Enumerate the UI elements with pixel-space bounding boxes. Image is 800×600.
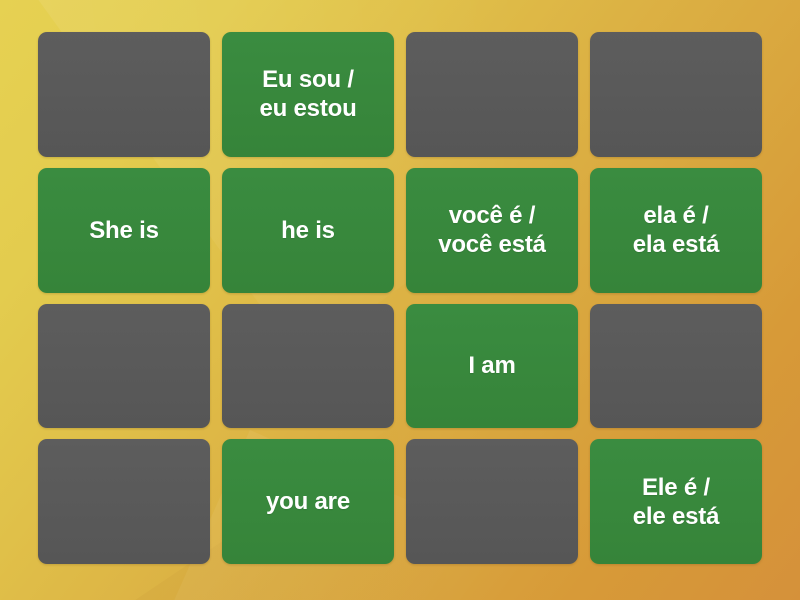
tile-5-label: She is	[89, 216, 159, 245]
tile-6[interactable]: he is	[222, 168, 394, 293]
game-board: Eu sou / eu estou She is he is você é / …	[0, 0, 800, 600]
tile-11[interactable]: I am	[406, 304, 578, 429]
tile-3[interactable]	[406, 32, 578, 157]
tile-12[interactable]	[590, 304, 762, 429]
tile-15[interactable]	[406, 439, 578, 564]
tile-8-label: ela é / ela está	[633, 201, 719, 259]
tile-4[interactable]	[590, 32, 762, 157]
tile-2-label: Eu sou / eu estou	[259, 65, 356, 123]
tile-14-label: you are	[266, 487, 350, 516]
tile-6-label: he is	[281, 216, 335, 245]
tile-1[interactable]	[38, 32, 210, 157]
tile-16[interactable]: Ele é / ele está	[590, 439, 762, 564]
tile-7-label: você é / você está	[438, 201, 546, 259]
tile-2[interactable]: Eu sou / eu estou	[222, 32, 394, 157]
tile-7[interactable]: você é / você está	[406, 168, 578, 293]
tile-5[interactable]: She is	[38, 168, 210, 293]
tile-14[interactable]: you are	[222, 439, 394, 564]
tile-9[interactable]	[38, 304, 210, 429]
tile-8[interactable]: ela é / ela está	[590, 168, 762, 293]
tile-grid: Eu sou / eu estou She is he is você é / …	[38, 32, 762, 564]
tile-13[interactable]	[38, 439, 210, 564]
tile-10[interactable]	[222, 304, 394, 429]
tile-16-label: Ele é / ele está	[633, 473, 719, 531]
tile-11-label: I am	[468, 351, 515, 380]
